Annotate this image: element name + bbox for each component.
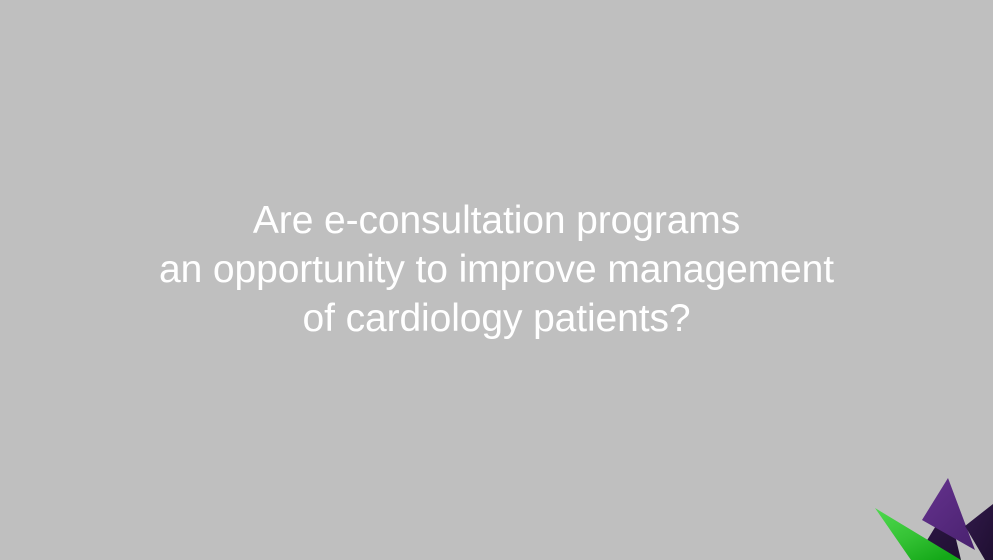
title-line-3: of cardiology patients? xyxy=(303,294,691,343)
title-slide: Are e-consultation programs an opportuni… xyxy=(0,0,993,560)
title-line-2: an opportunity to improve management xyxy=(159,245,834,294)
page-title: Are e-consultation programs an opportuni… xyxy=(0,0,993,560)
title-line-1: Are e-consultation programs xyxy=(253,196,740,245)
